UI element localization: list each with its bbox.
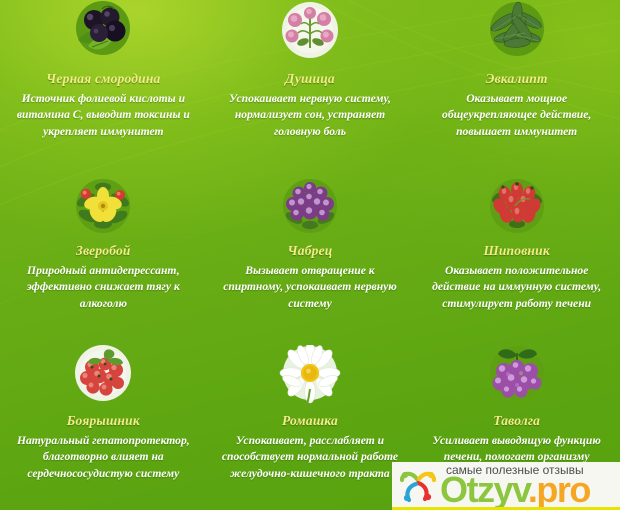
herb-cell: Душица Успокаивает нервную систему, норм… (207, 0, 414, 170)
watermark-brand-suffix: pro (536, 469, 590, 510)
herb-title: Чабрец (287, 244, 332, 259)
herb-cell: Боярышник Натуральный гепатопротектор, б… (0, 340, 207, 510)
herb-title: Эвкалипт (486, 72, 548, 87)
herb-title: Душица (285, 72, 335, 87)
herb-cell: Шиповник Оказывает положительное действи… (413, 170, 620, 340)
herb-description: Вызывает отвращение к спиртному, успокаи… (215, 263, 405, 312)
herb-thumbnail (6, 340, 201, 412)
herb-title: Боярышник (67, 414, 140, 429)
blackcurrant-berries-icon (72, 0, 134, 62)
herb-title: Черная смородина (46, 72, 160, 87)
eucalyptus-leaves-icon (486, 0, 548, 62)
herb-cell: Зверобой Природный антидепрессант, эффек… (0, 170, 207, 340)
hawthorn-berries-icon (72, 345, 134, 407)
watermark: самые полезные отзывы Otzyv.pro (392, 462, 620, 510)
herb-title: Шиповник (483, 244, 549, 259)
herb-thumbnail (213, 0, 408, 66)
herb-description: Оказывает положительное действие на имму… (422, 263, 612, 312)
herb-thumbnail (419, 0, 614, 66)
chamomile-flower-icon (279, 345, 341, 407)
meadowsweet-flowers-icon (486, 345, 548, 407)
herb-description: Натуральный гепатопротектор, благотворно… (8, 433, 198, 482)
herb-cell: Ромашка Успокаивает, расслабляет и спосо… (207, 340, 414, 510)
herb-description: Оказывает мощное общеукрепляющее действи… (422, 91, 612, 140)
rosehip-berries-icon (487, 176, 547, 236)
herb-cell: Чабрец Вызывает отвращение к спиртному, … (207, 170, 414, 340)
herb-description: Источник фолиевой кислоты и витамина С, … (8, 91, 198, 140)
watermark-brand-name: Otzyv (440, 469, 528, 510)
st-johns-wort-flower-icon (73, 176, 133, 236)
herbs-infographic: Черная смородина Источник фолиевой кисло… (0, 0, 620, 510)
herb-thumbnail (419, 170, 614, 242)
herb-thumbnail (213, 170, 408, 242)
herb-description: Успокаивает, расслабляет и способствует … (215, 433, 405, 482)
herb-thumbnail (6, 170, 201, 242)
oregano-flowers-icon (279, 0, 341, 62)
herb-thumbnail (6, 0, 201, 66)
herb-thumbnail (213, 340, 408, 412)
watermark-brand: Otzyv.pro (440, 472, 590, 508)
herb-grid: Черная смородина Источник фолиевой кисло… (0, 0, 620, 510)
herb-cell: Черная смородина Источник фолиевой кисло… (0, 0, 207, 170)
otzyv-people-logo-icon (398, 467, 438, 505)
herb-title: Таволга (493, 414, 540, 429)
herb-title: Ромашка (282, 414, 338, 429)
herb-title: Зверобой (76, 244, 131, 259)
herb-cell: Эвкалипт Оказывает мощное общеукрепляюще… (413, 0, 620, 170)
herb-description: Успокаивает нервную систему, нормализует… (215, 91, 405, 140)
thyme-flowers-icon (280, 176, 340, 236)
watermark-text: самые полезные отзывы Otzyv.pro (440, 462, 620, 510)
herb-thumbnail (419, 340, 614, 412)
herb-description: Природный антидепрессант, эффективно сни… (8, 263, 198, 312)
